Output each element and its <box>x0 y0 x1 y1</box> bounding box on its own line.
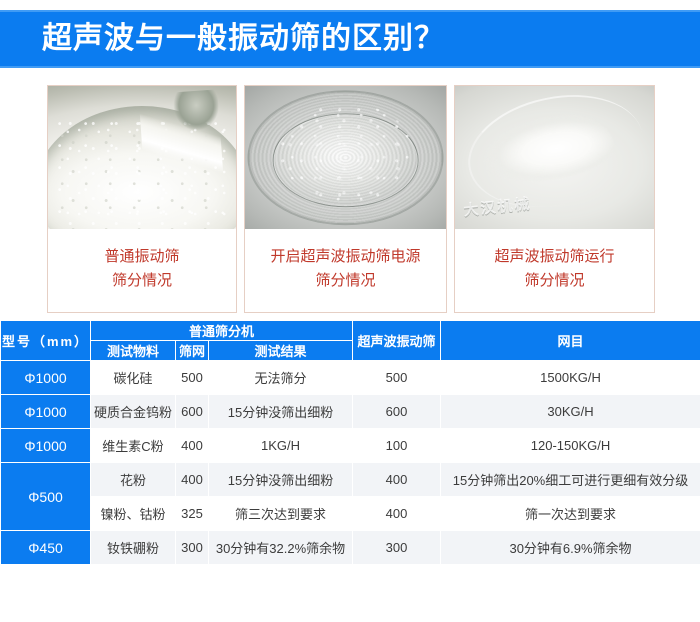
table-row: Φ1000 碳化硅 500 无法筛分 500 1500KG/H <box>1 361 700 395</box>
cell-model: Φ1000 <box>1 395 91 429</box>
photo-image-ultrasonic-power-on <box>245 86 446 229</box>
table-header: 型号（mm） 普通筛分机 超声波振动筛 网目 测试物料 筛网 测试结果 <box>1 321 700 361</box>
specification-table: 型号（mm） 普通筛分机 超声波振动筛 网目 测试物料 筛网 测试结果 Φ100… <box>0 320 700 565</box>
table-header-row-1: 型号（mm） 普通筛分机 超声波振动筛 网目 <box>1 321 700 341</box>
cell-mesh: 300 <box>176 531 209 565</box>
photo-caption-ultrasonic-running: 超声波振动筛运行 筛分情况 <box>455 229 654 312</box>
cell-ultrasonic: 600 <box>353 395 441 429</box>
caption-line-1: 开启超声波振动筛电源 <box>270 245 420 268</box>
powder-texture-overlay <box>56 117 229 229</box>
cell-net: 1500KG/H <box>441 361 700 395</box>
cell-mesh: 400 <box>176 463 209 497</box>
table-row: Φ450 钕铁硼粉 300 30分钟有32.2%筛余物 300 30分钟有6.9… <box>1 531 700 565</box>
photo-image-ordinary-vibrating-screen <box>48 86 236 229</box>
cell-net: 30分钟有6.9%筛余物 <box>441 531 700 565</box>
cell-material: 钕铁硼粉 <box>91 531 176 565</box>
page-title: 超声波与一般振动筛的区别？ <box>42 24 445 54</box>
cell-ultrasonic: 300 <box>353 531 441 565</box>
photo-watermark: 大汉机械 <box>461 171 647 229</box>
cell-material: 花粉 <box>91 463 176 497</box>
table-row: 镍粉、钴粉 325 筛三次达到要求 400 筛一次达到要求 <box>1 497 700 531</box>
cell-material: 镍粉、钴粉 <box>91 497 176 531</box>
column-header-mesh: 筛网 <box>176 341 209 361</box>
cell-material: 硬质合金钨粉 <box>91 395 176 429</box>
cell-mesh: 400 <box>176 429 209 463</box>
cell-result: 15分钟没筛出细粉 <box>209 395 353 429</box>
cell-ultrasonic: 100 <box>353 429 441 463</box>
caption-line-2: 筛分情况 <box>112 269 172 292</box>
cell-ultrasonic: 500 <box>353 361 441 395</box>
cell-model: Φ1000 <box>1 429 91 463</box>
photo-card-ultrasonic-running[interactable]: 大汉机械 超声波振动筛运行 筛分情况 <box>454 85 655 313</box>
table-row: Φ500 花粉 400 15分钟没筛出细粉 400 15分钟筛出20%细工可进行… <box>1 463 700 497</box>
cell-net: 30KG/H <box>441 395 700 429</box>
cell-result: 30分钟有32.2%筛余物 <box>209 531 353 565</box>
cell-result: 1KG/H <box>209 429 353 463</box>
photo-card-ultrasonic-power-on[interactable]: 开启超声波振动筛电源 筛分情况 <box>244 85 447 313</box>
cell-mesh: 500 <box>176 361 209 395</box>
photo-caption-ordinary-vibrating-screen: 普通振动筛 筛分情况 <box>48 229 236 312</box>
caption-line-2: 筛分情况 <box>524 269 584 292</box>
column-header-ultrasonic-vibrating-screen: 超声波振动筛 <box>353 321 441 361</box>
sieve-mesh-texture-overlay <box>277 103 414 203</box>
caption-line-1: 普通振动筛 <box>104 245 179 268</box>
table-row: Φ1000 维生素C粉 400 1KG/H 100 120-150KG/H <box>1 429 700 463</box>
cell-model: Φ1000 <box>1 361 91 395</box>
column-header-test-material: 测试物料 <box>91 341 176 361</box>
caption-line-1: 超声波振动筛运行 <box>494 245 614 268</box>
comparison-photo-row: 普通振动筛 筛分情况 开启超声波振动筛电源 筛分情况 大汉机械 超声波振动筛运行… <box>47 85 655 313</box>
cell-result: 无法筛分 <box>209 361 353 395</box>
photo-card-ordinary-vibrating-screen[interactable]: 普通振动筛 筛分情况 <box>47 85 237 313</box>
column-header-net: 网目 <box>441 321 700 361</box>
cell-ultrasonic: 400 <box>353 497 441 531</box>
cell-ultrasonic: 400 <box>353 463 441 497</box>
column-header-test-result: 测试结果 <box>209 341 353 361</box>
column-header-model: 型号（mm） <box>1 321 91 361</box>
cell-material: 碳化硅 <box>91 361 176 395</box>
cell-mesh: 600 <box>176 395 209 429</box>
cell-model: Φ450 <box>1 531 91 565</box>
cell-mesh: 325 <box>176 497 209 531</box>
table-body: Φ1000 碳化硅 500 无法筛分 500 1500KG/H Φ1000 硬质… <box>1 361 700 565</box>
cell-net: 120-150KG/H <box>441 429 700 463</box>
cell-net: 筛一次达到要求 <box>441 497 700 531</box>
photo-caption-ultrasonic-power-on: 开启超声波振动筛电源 筛分情况 <box>245 229 446 312</box>
table-row: Φ1000 硬质合金钨粉 600 15分钟没筛出细粉 600 30KG/H <box>1 395 700 429</box>
cell-material: 维生素C粉 <box>91 429 176 463</box>
cell-result: 15分钟没筛出细粉 <box>209 463 353 497</box>
photo-image-ultrasonic-running: 大汉机械 <box>455 86 654 229</box>
page-banner: 超声波与一般振动筛的区别？ <box>0 10 700 68</box>
caption-line-2: 筛分情况 <box>315 269 375 292</box>
cell-model: Φ500 <box>1 463 91 531</box>
cell-result: 筛三次达到要求 <box>209 497 353 531</box>
column-header-ordinary-screening-machine: 普通筛分机 <box>91 321 353 341</box>
cell-net: 15分钟筛出20%细工可进行更细有效分级 <box>441 463 700 497</box>
